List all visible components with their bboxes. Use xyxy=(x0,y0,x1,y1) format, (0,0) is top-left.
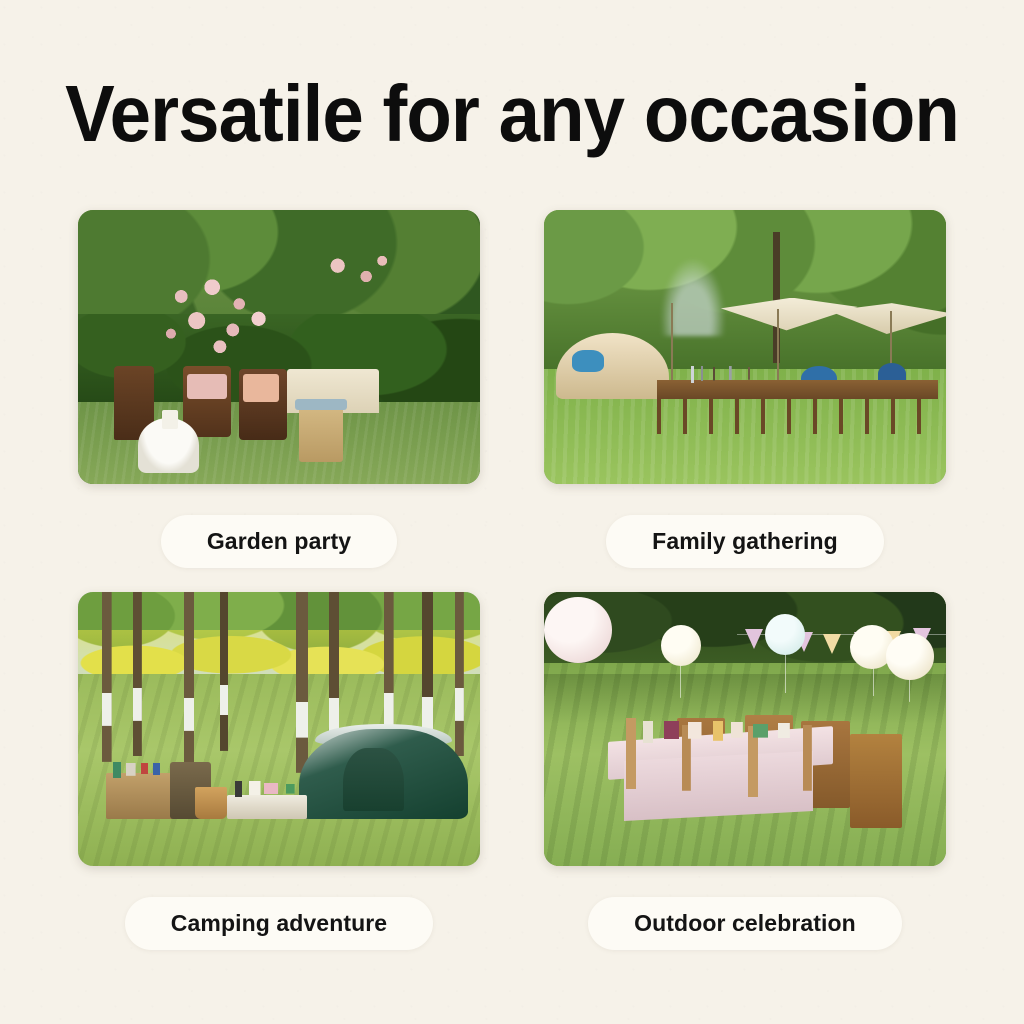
table-items xyxy=(231,781,303,797)
flower-cluster xyxy=(311,251,399,300)
page-title: Versatile for any occasion xyxy=(36,74,988,154)
tarp-pole xyxy=(671,303,673,391)
camp-cart xyxy=(106,773,174,820)
occasion-label-camping-adventure: Camping adventure xyxy=(125,897,433,950)
vase xyxy=(162,410,178,429)
stool-top xyxy=(295,399,347,410)
chair-cushion xyxy=(187,374,227,399)
occasion-grid: Garden party xyxy=(78,210,946,950)
camping-adventure-photo xyxy=(78,592,480,866)
occasion-card-family-gathering[interactable]: Family gathering xyxy=(544,210,946,568)
table-items xyxy=(689,366,794,382)
picnic-basket xyxy=(195,787,227,820)
occasion-label-family-gathering: Family gathering xyxy=(606,515,884,568)
occasion-label-outdoor-celebration: Outdoor celebration xyxy=(588,897,902,950)
low-table xyxy=(227,795,307,820)
chair-cushion xyxy=(243,374,279,401)
tent-door xyxy=(343,748,403,811)
occasion-card-garden-party[interactable]: Garden party xyxy=(78,210,480,568)
occasion-card-outdoor-celebration[interactable]: Outdoor celebration xyxy=(544,592,946,950)
occasion-label-garden-party: Garden party xyxy=(161,515,397,568)
garden-party-photo xyxy=(78,210,480,484)
table-setting xyxy=(636,721,805,743)
family-gathering-photo xyxy=(544,210,946,484)
picnic-tables xyxy=(657,380,938,399)
tent-window xyxy=(572,350,604,372)
flowering-shrub xyxy=(158,276,287,369)
outdoor-celebration-photo xyxy=(544,592,946,866)
wooden-stool xyxy=(299,402,343,462)
occasion-card-camping-adventure[interactable]: Camping adventure xyxy=(78,592,480,950)
cart-items xyxy=(110,762,170,778)
poster: Versatile for any occasion xyxy=(0,0,1024,1024)
